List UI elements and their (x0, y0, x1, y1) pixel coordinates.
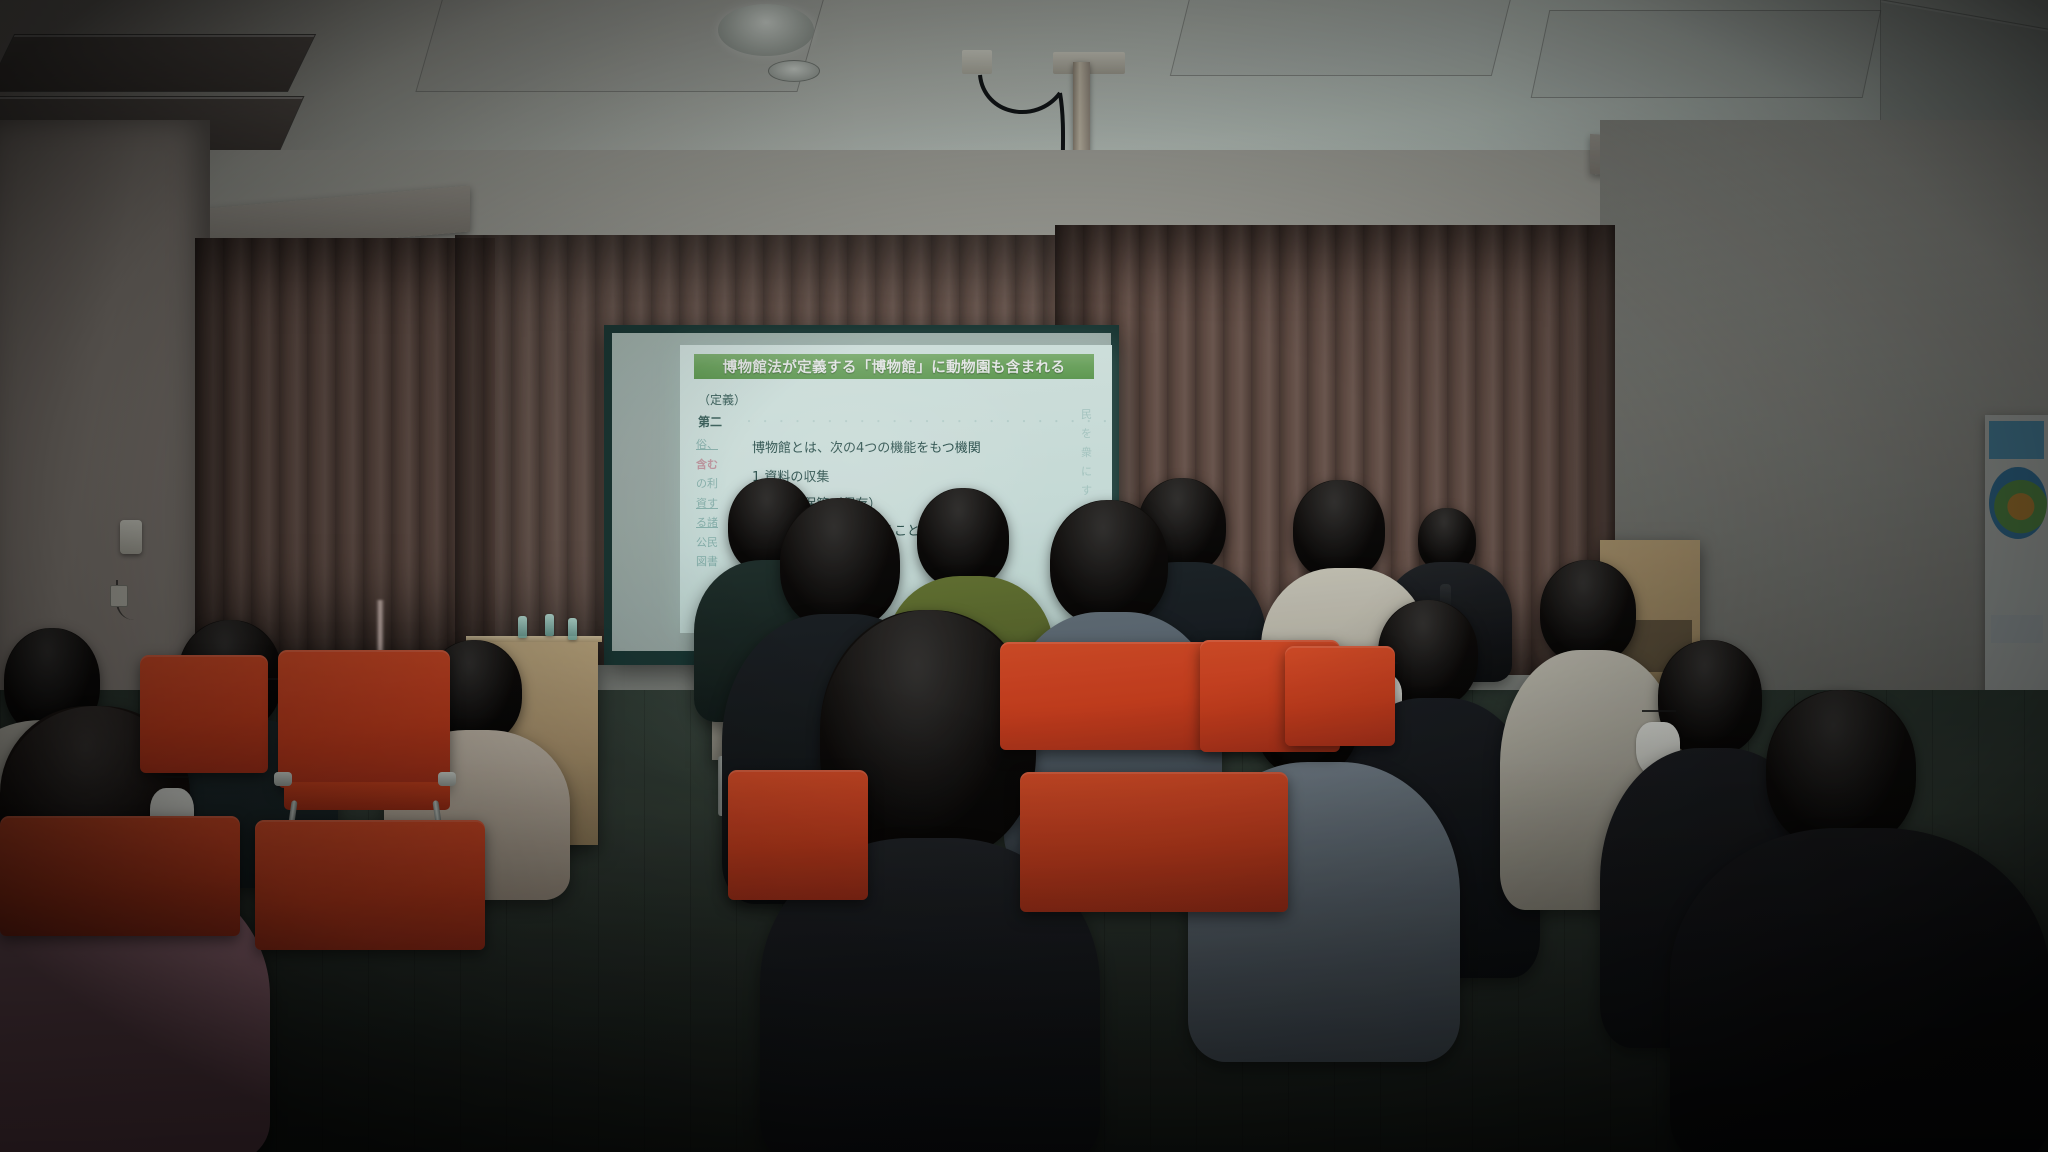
head (917, 488, 1009, 588)
chair-back (278, 650, 450, 788)
smoke-detector-icon (768, 60, 820, 82)
head-highlight (917, 488, 1009, 588)
legal-left-line: 含む (696, 455, 736, 475)
head (1766, 690, 1916, 850)
chair-joint (274, 772, 292, 786)
body (1670, 828, 2048, 1152)
head-highlight (780, 498, 900, 630)
chair-back (255, 820, 485, 950)
glasses-icon (158, 776, 188, 782)
slide-legal-article: 第二 (698, 413, 722, 430)
slide-lead-line: 博物館とは、次の4つの機能をもつ機関 (752, 435, 1082, 462)
bottle-icon (568, 618, 577, 640)
slide-legal-heading: （定義） (698, 391, 746, 408)
chair-back (140, 655, 268, 773)
chair-back (0, 816, 240, 936)
ceiling-vent (0, 34, 316, 92)
ceiling-downlight (718, 4, 814, 56)
ceiling-tile (1170, 0, 1512, 76)
legal-right-line: 民 (1079, 405, 1094, 424)
head (780, 498, 900, 630)
curtain-left (195, 238, 495, 658)
bottle-icon (545, 614, 554, 636)
head (1293, 480, 1385, 580)
chair-back (1285, 646, 1395, 746)
slide-legal-faint-text: ・ ・ ・ ・ ・ ・ ・ ・ ・ ・ ・ ・ ・ ・ ・ ・ ・ ・ ・ ・ … (744, 413, 1044, 428)
poster-shading (1985, 415, 2048, 715)
chair-back (1020, 772, 1288, 912)
head-highlight (1293, 480, 1385, 580)
chair-back (728, 770, 868, 900)
glasses-icon (1642, 710, 1676, 716)
light-switch[interactable] (110, 585, 128, 607)
head-highlight (1766, 690, 1916, 850)
slide-title: 博物館法が定義する「博物館」に動物園も含まれる (694, 354, 1094, 379)
ceiling-tile (1531, 10, 1882, 98)
chair-seat (284, 782, 450, 810)
chair-joint (438, 772, 456, 786)
circular-diagram-poster (1985, 415, 2048, 715)
wall-phone[interactable] (120, 520, 142, 554)
head (1050, 500, 1168, 626)
legal-left-line: の利 (696, 474, 736, 494)
bottle-icon (518, 616, 527, 638)
slide-list-item: 1.資料の収集 (752, 464, 1082, 491)
legal-left-line: 俗、 (696, 435, 736, 455)
head (1540, 560, 1636, 664)
lecture-hall-photo: 博物館法が定義する「博物館」に動物園も含まれる （定義） 第二 ・ ・ ・ ・ … (0, 0, 2048, 1152)
slide-legal-left-column: 俗、 含む の利 資す る諸 公民 図書 (696, 435, 736, 572)
head-highlight (1050, 500, 1168, 626)
head-highlight (1540, 560, 1636, 664)
